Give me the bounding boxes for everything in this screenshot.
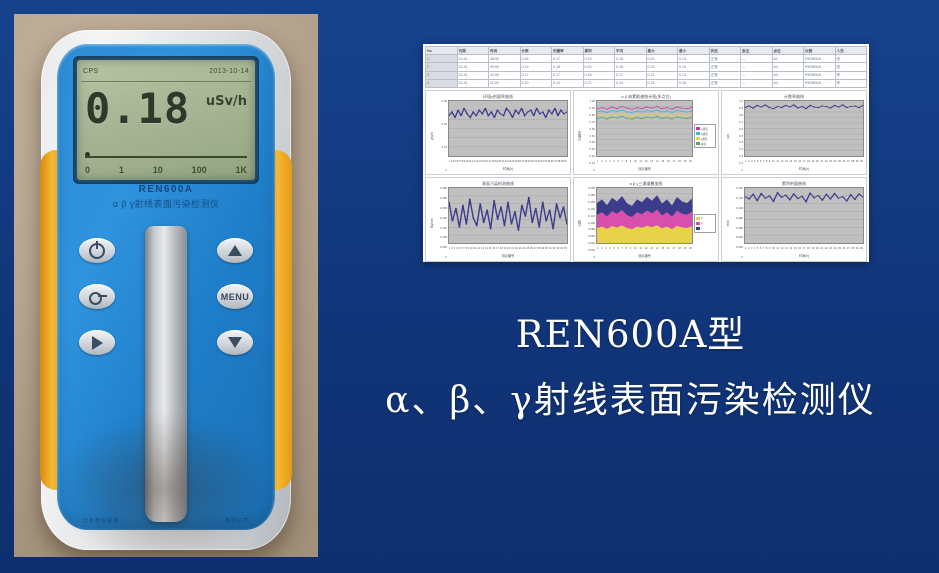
lcd-tick: 1: [119, 165, 124, 175]
chart-x-ticks: 1234567891011121314151617181920: [596, 244, 693, 253]
chart-x-tick: 15: [661, 157, 664, 166]
legend-swatch: [696, 137, 700, 140]
chart-x-tick: 11: [776, 157, 779, 166]
chart-x-tick: 7: [622, 157, 623, 166]
chart-x-tick: 7: [763, 157, 764, 166]
chart-y-tick: 0.10: [442, 146, 447, 149]
chart-x-tick: 29: [856, 157, 859, 166]
table-cell: 0.19: [615, 79, 647, 87]
lcd-tick: 10: [153, 165, 163, 175]
chart-x-tick: 28: [851, 157, 854, 166]
chart-x-axis-label: 时间(h): [744, 166, 864, 172]
chart-x-tick: 11: [776, 244, 779, 253]
menu-button[interactable]: MENU: [217, 284, 253, 309]
chart-y-tick: 0.70: [590, 121, 595, 124]
table-cell: A4: [772, 79, 804, 87]
legend-swatch: [696, 132, 700, 135]
chart-y-ticks: 1.000.900.800.700.600.500.400.300.200.10…: [583, 100, 596, 172]
play-button[interactable]: [79, 330, 115, 355]
legend-label: β: [701, 222, 703, 225]
chart-x-tick: 35: [564, 244, 567, 253]
chart-y-tick: 0.080: [588, 228, 595, 231]
device-keypad: MENU: [57, 232, 275, 496]
chart-x-tick: 7: [763, 244, 764, 253]
lcd-tick: 100: [192, 165, 207, 175]
chart-y-ticks: 0.300.200.100: [435, 100, 448, 172]
chart-x-tick: 18: [678, 244, 681, 253]
chart-y-axis-label: mSv: [724, 187, 731, 259]
chart-y-axis-label: cps: [724, 100, 731, 172]
table-header-cell: 平均: [615, 47, 647, 55]
chart-y-tick: 0.020: [588, 249, 595, 252]
device-footer-text-left: 北京核信锐视: [83, 517, 119, 524]
chart-x-tick: 26: [842, 244, 845, 253]
chart-x-tick: 3: [605, 157, 606, 166]
table-cell: 0.18: [520, 55, 552, 63]
chart-y-ticks: 0.1400.1200.1000.0800.0600.0400.0200: [731, 187, 744, 259]
chart-x-tick: 21: [820, 157, 823, 166]
table-cell: —: [741, 63, 773, 71]
lcd-tick: 0: [85, 165, 90, 175]
chart-x-tick: 6: [760, 157, 761, 166]
chart-plot-wrap: 1234567891011121314151617181920212223242…: [744, 187, 864, 259]
table-cell: 09:00: [489, 63, 521, 71]
chart-x-tick: 8: [766, 157, 767, 166]
chart-title: 表面污染检测曲线: [428, 180, 568, 187]
table-cell: 1: [426, 55, 458, 63]
chart-x-tick: 15: [661, 244, 664, 253]
chart-x-tick: 1: [745, 157, 746, 166]
chart-line-累积剂量: [745, 193, 863, 202]
chart-x-ticks: 1234567891011121314151617181920212223242…: [744, 244, 864, 253]
lcd-status-right: 2013-10-14: [209, 68, 249, 75]
chart-x-tick: 15: [794, 244, 797, 253]
chart-x-tick: 5: [613, 244, 614, 253]
chart-x-tick: 40: [564, 157, 567, 166]
chart-x-tick: 6: [760, 244, 761, 253]
radiation-detector-device: CPS 2013-10-14 0.18 uSv/h 0 1 10 100: [41, 30, 291, 550]
chart-x-tick: 9: [769, 157, 770, 166]
chart-stacked-channels[interactable]: α β γ三通道叠加图比例0.2000.1800.1600.1400.1200.…: [573, 177, 719, 262]
table-row[interactable]: 210-0109:000.190.180.200.180.230.15正常—A2…: [426, 63, 867, 71]
chart-x-tick: 13: [650, 244, 653, 253]
chart-x-tick: 28: [538, 244, 541, 253]
table-cell: 10-01: [457, 79, 489, 87]
legend-item: 本底: [696, 141, 714, 146]
chart-x-ticks: 1234567891011121314151617181920212223242…: [744, 157, 864, 166]
chart-plot-area: [448, 100, 568, 157]
chart-plot-wrap: 1234567891011121314151617181920212223242…: [448, 100, 568, 172]
chart-x-tick: 27: [847, 244, 850, 253]
table-cell: 3: [426, 71, 458, 79]
chart-y-tick: 0.040: [588, 242, 595, 245]
chart-y-tick: 1.0: [739, 100, 743, 103]
chart-line-剂量率: [449, 108, 567, 117]
chart-plot-area: [596, 100, 693, 157]
chart-body: 计数率1.000.900.800.700.600.500.400.300.200…: [576, 100, 716, 172]
chart-x-tick: 10: [634, 157, 637, 166]
chart-x-tick: 8: [626, 157, 627, 166]
device-model-name: REN600A: [57, 184, 275, 195]
key-icon: [89, 292, 106, 301]
chart-x-tick: 8: [626, 244, 627, 253]
triangle-down-icon: [228, 337, 242, 348]
chart-x-tick: 19: [504, 244, 507, 253]
chart-x-tick: 10: [772, 157, 775, 166]
chart-x-tick: 1: [449, 244, 450, 253]
chart-x-tick: 24: [834, 244, 837, 253]
chart-body: Bq/cm²0.3500.3000.2500.2000.1500.1000.05…: [428, 187, 568, 259]
table-cell: 0.18: [552, 63, 584, 71]
table-cell: 0.16: [678, 79, 710, 87]
chart-x-tick: 32: [553, 244, 556, 253]
chart-y-tick: 0.160: [588, 201, 595, 204]
chart-legend: α通道β通道γ通道本底: [694, 124, 716, 148]
chart-x-tick: 9: [630, 157, 631, 166]
chart-x-tick: 14: [789, 244, 792, 253]
chart-x-tick: 17: [496, 244, 499, 253]
chart-y-tick: 0.120: [736, 197, 743, 200]
chart-x-tick: 18: [807, 157, 810, 166]
chart-y-axis-label: 比例: [576, 187, 583, 259]
chart-x-tick: 26: [530, 244, 533, 253]
chart-x-tick: 30: [860, 157, 863, 166]
table-header-cell: 剂量率: [552, 47, 584, 55]
chart-x-tick: 19: [811, 157, 814, 166]
chart-y-axis-label: 计数率: [576, 100, 583, 172]
chart-x-tick: 20: [689, 157, 692, 166]
chart-y-ticks: 0.2000.1800.1600.1400.1200.1000.0800.060…: [583, 187, 596, 259]
chart-x-tick: 2: [601, 244, 602, 253]
chart-body: mSv0.1400.1200.1000.0800.0600.0400.02001…: [724, 187, 864, 259]
table-cell: 2: [426, 63, 458, 71]
chart-y-tick: 0.180: [588, 194, 595, 197]
device-handle-strap: [145, 226, 187, 522]
device-footer-text-right: 有限公司: [225, 517, 249, 524]
report-chart-grid: 环境γ剂量率曲线μSv/h0.300.200.10012345678910111…: [425, 90, 867, 262]
chart-y-tick: 0.100: [588, 222, 595, 225]
chart-x-tick: 2: [451, 244, 452, 253]
chart-x-tick: 10: [634, 244, 637, 253]
chart-x-tick: 17: [672, 157, 675, 166]
chart-y-axis-label: μSv/h: [428, 100, 435, 172]
legend-label: β通道: [701, 132, 708, 136]
chart-x-tick: 4: [754, 244, 755, 253]
slide-root: CPS 2013-10-14 0.18 uSv/h 0 1 10 100: [0, 0, 939, 573]
chart-x-tick: 12: [781, 244, 784, 253]
chart-x-tick: 1: [597, 157, 598, 166]
device-model-subtitle: α β γ射线表面污染检测仪: [57, 197, 275, 210]
table-cell: 张: [835, 63, 867, 71]
chart-y-tick: 0.020: [736, 246, 743, 249]
chart-y-tick: 0.2: [739, 155, 743, 158]
chart-x-tick: 9: [630, 244, 631, 253]
chart-y-tick: 0.300: [440, 197, 447, 200]
table-cell: 0.21: [646, 71, 678, 79]
chart-x-tick: 24: [522, 244, 525, 253]
chart-x-tick: 19: [811, 244, 814, 253]
software-report-screenshot: No日期时间计数剂量率累积平均最大最小状态备注点位仪器人员110-0108:00…: [423, 44, 869, 262]
chart-x-tick: 11: [639, 244, 642, 253]
chart-y-tick: 0.9: [739, 107, 743, 110]
chart-x-tick: 16: [798, 244, 801, 253]
chart-plot-area: [448, 187, 568, 244]
report-data-table: No日期时间计数剂量率累积平均最大最小状态备注点位仪器人员110-0108:00…: [425, 46, 867, 88]
chart-y-tick: 0.6: [739, 128, 743, 131]
table-header-row: No日期时间计数剂量率累积平均最大最小状态备注点位仪器人员: [426, 47, 867, 55]
table-header-cell: No: [426, 47, 458, 55]
chart-x-tick: 25: [838, 157, 841, 166]
chart-x-tick: 16: [667, 157, 670, 166]
chart-x-tick: 15: [794, 157, 797, 166]
table-cell: 李: [835, 79, 867, 87]
chart-x-tick: 30: [860, 244, 863, 253]
table-cell: REN600A: [804, 79, 836, 87]
table-cell: 0.22: [646, 55, 678, 63]
chart-nuclide-multi[interactable]: α β 核素能谱统计图(多点位)计数率1.000.900.800.700.600…: [573, 90, 719, 175]
chart-x-tick: 30: [545, 244, 548, 253]
legend-swatch: [696, 222, 700, 225]
chart-y-tick: 0.8: [739, 114, 743, 117]
chart-body: 比例0.2000.1800.1600.1400.1200.1000.0800.0…: [576, 187, 716, 259]
chart-body: cps1.00.90.80.70.60.50.40.30.20.10123456…: [724, 100, 864, 172]
up-button[interactable]: [217, 238, 253, 263]
chart-x-tick: 21: [820, 244, 823, 253]
chart-y-tick: 0.100: [440, 236, 447, 239]
table-cell: 0.17: [520, 71, 552, 79]
chart-x-axis-label: 测点编号: [596, 166, 693, 172]
device-faceplate: CPS 2013-10-14 0.18 uSv/h 0 1 10 100: [57, 44, 275, 530]
table-cell: 0.17: [552, 55, 584, 63]
chart-x-tick: 13: [481, 244, 484, 253]
chart-x-tick: 4: [609, 157, 610, 166]
table-cell: —: [741, 55, 773, 63]
chart-x-tick: 13: [785, 157, 788, 166]
chart-x-tick: 1: [597, 244, 598, 253]
table-cell: 4: [426, 79, 458, 87]
legend-swatch: [696, 217, 700, 220]
chart-x-tick: 13: [785, 244, 788, 253]
chart-x-tick: 3: [751, 157, 752, 166]
table-header-cell: 状态: [709, 47, 741, 55]
chart-y-tick: 0: [741, 256, 743, 259]
table-cell: 李: [835, 71, 867, 79]
chart-plot-area: [744, 187, 864, 244]
caption-block: REN600A型 α、β、γ射线表面污染检测仪: [330, 315, 931, 421]
power-button[interactable]: [79, 238, 115, 263]
table-cell: 正常: [709, 79, 741, 87]
chart-y-tick: 0.20: [442, 123, 447, 126]
chart-y-tick: 0.30: [590, 148, 595, 151]
chart-x-tick: 6: [461, 244, 462, 253]
chart-surface-contamination[interactable]: 表面污染检测曲线Bq/cm²0.3500.3000.2500.2000.1500…: [425, 177, 571, 262]
lcd-bargraph-axis: [85, 156, 247, 158]
chart-x-tick: 6: [617, 157, 618, 166]
chart-y-tick: 1.00: [590, 100, 595, 103]
chart-x-tick: 34: [560, 244, 563, 253]
chart-y-ticks: 1.00.90.80.70.60.50.40.30.20.10: [731, 100, 744, 172]
chart-x-tick: 28: [851, 244, 854, 253]
chart-x-tick: 2: [748, 157, 749, 166]
table-row[interactable]: 110-0108:000.180.170.190.180.220.14正常—A1…: [426, 55, 867, 63]
chart-y-tick: 0.040: [736, 236, 743, 239]
triangle-up-icon: [228, 245, 242, 256]
chart-x-tick: 9: [468, 244, 469, 253]
chart-x-tick: 25: [838, 244, 841, 253]
chart-x-tick: 5: [458, 244, 459, 253]
chart-x-tick: 14: [656, 244, 659, 253]
table-header-cell: 点位: [772, 47, 804, 55]
chart-plot-area: [596, 187, 693, 244]
chart-y-tick: 0.140: [588, 208, 595, 211]
table-header-cell: 人员: [835, 47, 867, 55]
table-cell: A2: [772, 63, 804, 71]
table-cell: 0.13: [678, 71, 710, 79]
table-cell: 张: [835, 55, 867, 63]
table-cell: REN600A: [804, 63, 836, 71]
chart-x-tick: 5: [613, 157, 614, 166]
table-cell: 正常: [709, 55, 741, 63]
chart-x-tick: 10: [470, 244, 473, 253]
chart-x-tick: 11: [639, 157, 642, 166]
table-cell: 0.19: [583, 55, 615, 63]
legend-label: γ通道: [701, 137, 707, 141]
chart-count-rate[interactable]: 计数率曲线cps1.00.90.80.70.60.50.40.30.20.101…: [721, 90, 867, 175]
chart-x-axis-label: 时间(h): [744, 253, 864, 259]
table-cell: 0.18: [615, 55, 647, 63]
chart-x-tick: 15: [489, 244, 492, 253]
table-row[interactable]: 410-0111:000.200.190.210.190.240.16正常—A4…: [426, 79, 867, 87]
chart-area-α: [597, 225, 692, 243]
chart-x-tick: 31: [549, 244, 552, 253]
chart-legend: αβγ: [694, 214, 716, 233]
chart-x-tick: 5: [757, 244, 758, 253]
chart-title: 累积剂量曲线: [724, 180, 864, 187]
chart-x-tick: 13: [650, 157, 653, 166]
chart-x-tick: 18: [678, 157, 681, 166]
chart-x-tick: 29: [856, 244, 859, 253]
product-photo: CPS 2013-10-14 0.18 uSv/h 0 1 10 100: [14, 14, 318, 557]
table-cell: —: [741, 71, 773, 79]
table-cell: 0.21: [583, 79, 615, 87]
chart-x-tick: 10: [772, 244, 775, 253]
down-button[interactable]: [217, 330, 253, 355]
chart-total-dose[interactable]: 累积剂量曲线mSv0.1400.1200.1000.0800.0600.0400…: [721, 177, 867, 262]
legend-label: γ: [701, 227, 702, 230]
key-button[interactable]: [79, 284, 115, 309]
table-cell: 10-01: [457, 55, 489, 63]
chart-y-tick: 0: [593, 256, 595, 259]
legend-swatch: [696, 142, 700, 145]
chart-x-axis-label: 时间(h): [448, 166, 568, 172]
chart-y-tick: 0.200: [440, 217, 447, 220]
chart-y-tick: 0.60: [590, 128, 595, 131]
table-cell: 0.23: [646, 63, 678, 71]
chart-y-tick: 0.3: [739, 148, 743, 151]
table-cell: 0.17: [552, 71, 584, 79]
chart-x-tick: 27: [847, 157, 850, 166]
chart-y-tick: 0.30: [442, 100, 447, 103]
chart-x-tick: 24: [834, 157, 837, 166]
table-header-cell: 仪器: [804, 47, 836, 55]
chart-x-tick: 17: [803, 244, 806, 253]
table-cell: 0.20: [583, 63, 615, 71]
chart-x-tick: 20: [689, 244, 692, 253]
legend-label: α通道: [701, 127, 708, 131]
legend-item: γ: [696, 226, 714, 231]
table-cell: 10:00: [489, 71, 521, 79]
lcd-divider: [81, 81, 251, 82]
chart-x-tick: 20: [816, 157, 819, 166]
chart-x-tick: 22: [515, 244, 518, 253]
table-cell: A1: [772, 55, 804, 63]
table-header-cell: 最小: [678, 47, 710, 55]
table-cell: 0.14: [678, 55, 710, 63]
lcd-status-left: CPS: [83, 68, 99, 75]
chart-y-tick: 0.50: [590, 135, 595, 138]
chart-x-tick: 22: [825, 157, 828, 166]
chart-x-tick: 7: [622, 244, 623, 253]
chart-y-ticks: 0.3500.3000.2500.2000.1500.1000.0500: [435, 187, 448, 259]
chart-plot-wrap: 1234567891011121314151617181920测点编号: [596, 100, 693, 172]
lcd-tick: 1K: [235, 165, 247, 175]
chart-x-tick: 23: [829, 244, 832, 253]
chart-dose-rate-trend[interactable]: 环境γ剂量率曲线μSv/h0.300.200.10012345678910111…: [425, 90, 571, 175]
chart-x-tick: 8: [465, 244, 466, 253]
chart-title: α β γ三通道叠加图: [576, 180, 716, 187]
chart-x-tick: 25: [526, 244, 529, 253]
chart-y-tick: 0.250: [440, 207, 447, 210]
chart-y-tick: 0.150: [440, 227, 447, 230]
chart-y-tick: 0.100: [736, 207, 743, 210]
chart-y-tick: 0.10: [590, 162, 595, 165]
table-cell: 0.17: [615, 71, 647, 79]
legend-label: 本底: [701, 142, 706, 146]
table-header-cell: 备注: [741, 47, 773, 55]
table-cell: 0.15: [678, 63, 710, 71]
chart-x-tick: 7: [463, 244, 464, 253]
table-cell: 0.24: [646, 79, 678, 87]
chart-x-tick: 19: [683, 157, 686, 166]
chart-plot-wrap: 1234567891011121314151617181920测点编号: [596, 187, 693, 259]
chart-x-tick: 22: [825, 244, 828, 253]
chart-x-tick: 5: [757, 157, 758, 166]
chart-x-tick: 4: [456, 244, 457, 253]
chart-x-ticks: 1234567891011121314151617181920212223242…: [448, 244, 568, 253]
chart-y-tick: 0.080: [736, 217, 743, 220]
chart-x-tick: 3: [751, 244, 752, 253]
chart-y-tick: 0: [593, 169, 595, 172]
table-cell: 0.19: [552, 79, 584, 87]
table-cell: 0.18: [615, 63, 647, 71]
chart-y-tick: 0.1: [739, 162, 743, 165]
chart-y-tick: 0.060: [588, 235, 595, 238]
chart-x-tick: 26: [842, 157, 845, 166]
table-row[interactable]: 310-0110:000.170.170.180.170.210.13正常—A3…: [426, 71, 867, 79]
chart-x-tick: 12: [645, 244, 648, 253]
chart-x-tick: 12: [645, 157, 648, 166]
play-icon: [92, 336, 103, 350]
chart-x-tick: 20: [816, 244, 819, 253]
table-header-cell: 最大: [646, 47, 678, 55]
table-cell: 10-01: [457, 71, 489, 79]
chart-y-tick: 0.7: [739, 121, 743, 124]
chart-x-tick: 8: [766, 244, 767, 253]
legend-swatch: [696, 227, 700, 230]
chart-x-tick: 1: [745, 244, 746, 253]
chart-x-tick: 17: [672, 244, 675, 253]
table-cell: REN600A: [804, 55, 836, 63]
